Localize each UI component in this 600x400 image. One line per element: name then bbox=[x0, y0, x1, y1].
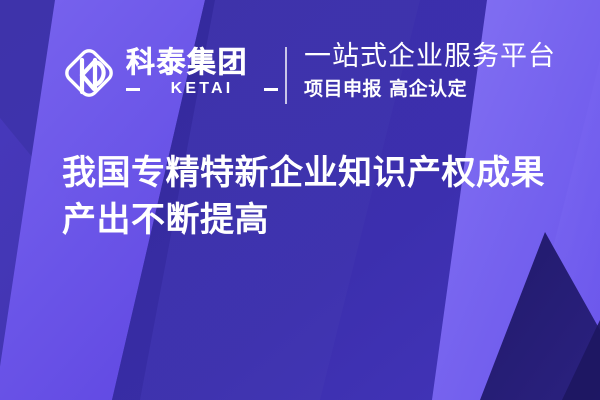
promo-banner: 科泰集团 KETAI 一站式企业服务平台 项目申报 高企认定 我国专精特新企业知… bbox=[0, 0, 600, 400]
tagline-secondary: 项目申报 高企认定 bbox=[304, 78, 574, 101]
brand-name-en: KETAI bbox=[140, 80, 264, 98]
tagline-primary: 一站式企业服务平台 bbox=[304, 41, 574, 72]
headline: 我国专精特新企业知识产权成果 产出不断提高 bbox=[62, 150, 562, 244]
wordmark-rule-right bbox=[264, 88, 278, 91]
headline-line-2: 产出不断提高 bbox=[62, 197, 562, 244]
wordmark-rule-left bbox=[126, 88, 140, 91]
brand-wordmark: 科泰集团 KETAI bbox=[126, 44, 278, 102]
brand-name-en-row: KETAI bbox=[126, 80, 278, 98]
tagline-block: 一站式企业服务平台 项目申报 高企认定 bbox=[304, 41, 574, 101]
brand-name-cn: 科泰集团 bbox=[126, 48, 278, 78]
ketai-kd-monogram-icon bbox=[62, 44, 116, 102]
header-vertical-divider bbox=[285, 47, 287, 104]
brand-logo: 科泰集团 KETAI bbox=[62, 42, 278, 104]
banner-header: 科泰集团 KETAI 一站式企业服务平台 项目申报 高企认定 bbox=[0, 0, 600, 130]
headline-line-1: 我国专精特新企业知识产权成果 bbox=[62, 150, 562, 197]
